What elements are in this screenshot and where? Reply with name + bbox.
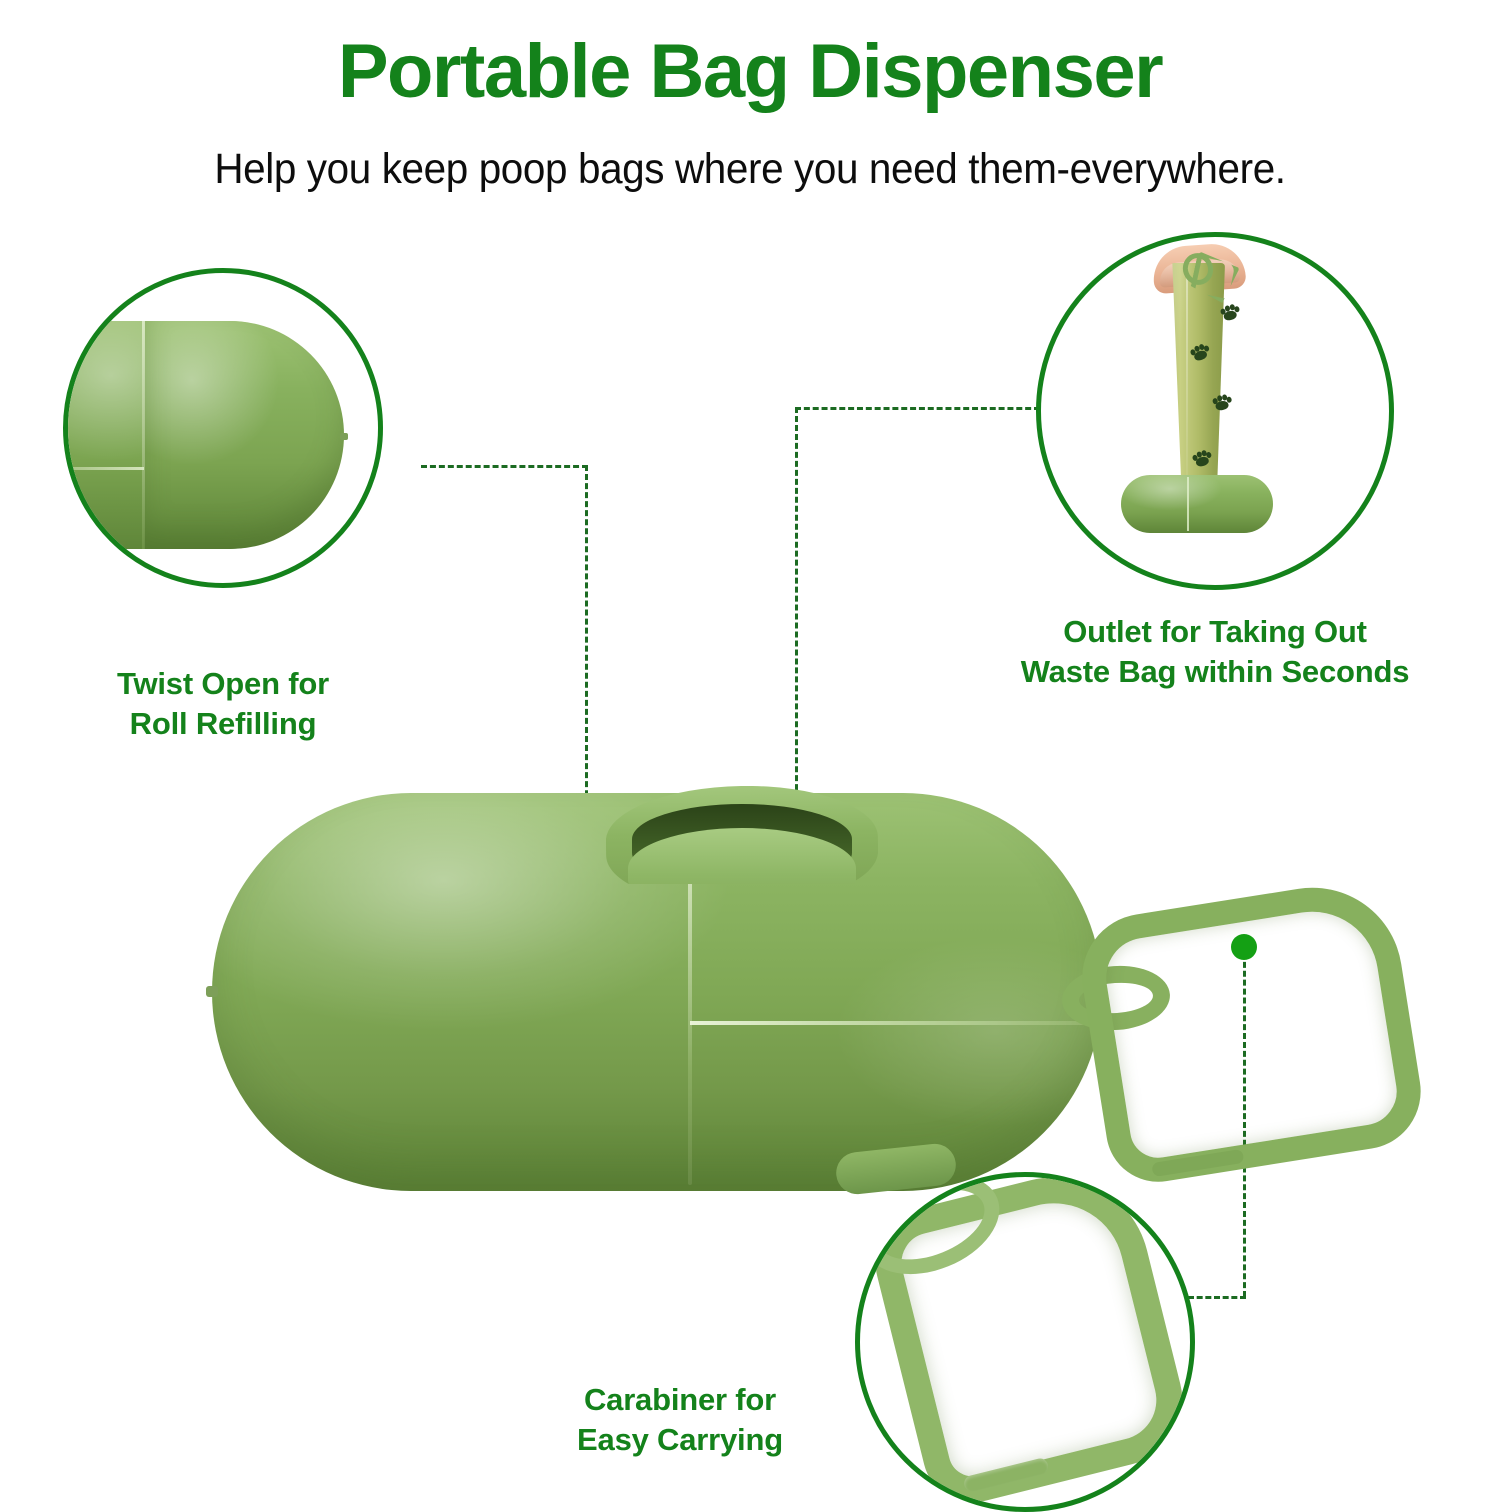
- cap-dome: [144, 321, 344, 549]
- infographic-canvas: Portable Bag Dispenser Help you keep poo…: [0, 0, 1500, 1500]
- paw-print-icon: [1212, 394, 1232, 412]
- callout-label-twist-open: Twist Open for Roll Refilling: [63, 664, 383, 743]
- paw-print-icon: [1219, 303, 1240, 322]
- cap-nub: [340, 433, 348, 440]
- page-title: Portable Bag Dispenser: [0, 34, 1500, 110]
- leader-line-carabiner-horizontal: [1188, 1296, 1246, 1299]
- callout-label-outlet-line2: Waste Bag within Seconds: [955, 652, 1475, 692]
- product-end-nub: [206, 986, 218, 997]
- product-seam-horizontal: [690, 1021, 1102, 1025]
- mini-dispenser-seam: [1187, 477, 1189, 531]
- leader-line-outlet-horizontal: [795, 407, 1040, 410]
- callout-label-twist-open-line2: Roll Refilling: [63, 704, 383, 744]
- product-carabiner: [1073, 875, 1429, 1189]
- callout-label-carabiner-line2: Easy Carrying: [515, 1420, 845, 1460]
- callout-circle-twist-open: [63, 268, 383, 588]
- cap-seam-vertical: [142, 321, 145, 549]
- leader-line-twist-open-horizontal: [421, 465, 588, 468]
- cap-seam-horizontal: [63, 467, 144, 470]
- callout-circle-outlet: [1036, 232, 1394, 590]
- carabiner-frame: [1073, 875, 1429, 1189]
- bag-fold-line: [1186, 263, 1188, 485]
- page-subtitle: Help you keep poop bags where you need t…: [45, 148, 1455, 191]
- callout-label-outlet: Outlet for Taking Out Waste Bag within S…: [955, 612, 1475, 691]
- carabiner-closeup-illustration: [864, 1172, 1195, 1512]
- callout-circle-carabiner: [855, 1172, 1195, 1512]
- callout-label-outlet-line1: Outlet for Taking Out: [955, 612, 1475, 652]
- product-outlet-slot: [606, 786, 878, 884]
- callout-label-carabiner: Carabiner for Easy Carrying: [515, 1380, 845, 1459]
- mini-dispenser-illustration: [1121, 475, 1273, 533]
- callout-label-twist-open-line1: Twist Open for: [63, 664, 383, 704]
- cap-closeup-illustration: [63, 321, 383, 549]
- callout-label-carabiner-line1: Carabiner for: [515, 1380, 845, 1420]
